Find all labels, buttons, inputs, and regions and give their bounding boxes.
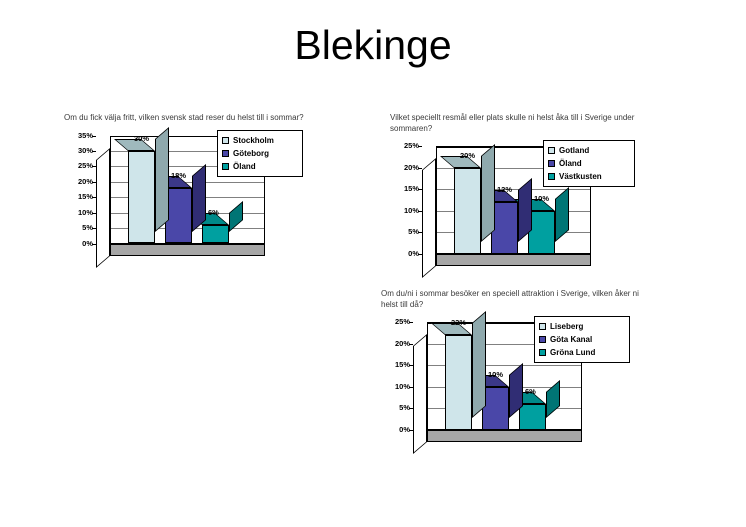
chart-bar-front-face [519, 404, 546, 430]
chart-legend: GotlandÖlandVästkusten [543, 140, 635, 187]
y-axis-tick-mark [409, 430, 413, 431]
chart-bar-front-face [165, 188, 192, 244]
y-axis-tick-mark [92, 151, 96, 152]
y-axis-tick-mark [92, 166, 96, 167]
legend-item: Öland [548, 157, 629, 170]
y-axis-tick-mark [92, 136, 96, 137]
legend-swatch-icon [548, 147, 555, 154]
y-axis-tick-mark [409, 387, 413, 388]
chart-bar-value-label: 12% [497, 186, 512, 194]
chart-legend: LisebergGöta KanalGröna Lund [534, 316, 630, 363]
legend-item: Liseberg [539, 320, 624, 333]
chart-plot-stad: 0%5%10%15%20%25%30%35%6%18%30%StockholmG… [64, 130, 314, 270]
legend-item-label: Öland [559, 159, 582, 168]
chart-bar-front-face [454, 168, 481, 254]
chart-floor [427, 430, 582, 442]
legend-item-label: Liseberg [550, 322, 583, 331]
chart-bar [482, 387, 509, 430]
chart-question-stad: Om du fick välja fritt, vilken svensk st… [64, 113, 314, 124]
chart-block-attraktion: Om du/ni i sommar besöker en speciell at… [381, 289, 643, 456]
slide-canvas: Blekinge Om du fick välja fritt, vilken … [0, 0, 746, 527]
legend-item: Göteborg [222, 147, 297, 160]
y-axis-tick-mark [409, 322, 413, 323]
chart-bar-front-face [482, 387, 509, 430]
legend-swatch-icon [222, 163, 229, 170]
chart-bar [165, 188, 192, 244]
legend-swatch-icon [222, 137, 229, 144]
legend-item-label: Gröna Lund [550, 348, 595, 357]
chart-bar-front-face [128, 151, 155, 244]
chart-bar [528, 211, 555, 254]
y-axis-tick-mark [92, 197, 96, 198]
legend-item-label: Stockholm [233, 136, 274, 145]
chart-bar [519, 404, 546, 430]
chart-question-attraktion: Om du/ni i sommar besöker en speciell at… [381, 289, 643, 310]
chart-bar-value-label: 20% [460, 152, 475, 160]
chart-bar-value-label: 10% [488, 371, 503, 379]
legend-item: Gotland [548, 144, 629, 157]
chart-bar [491, 202, 518, 254]
legend-swatch-icon [548, 173, 555, 180]
chart-legend: StockholmGöteborgÖland [217, 130, 303, 177]
chart-bar-front-face [202, 225, 229, 244]
chart-side-wall [96, 148, 110, 268]
y-axis-tick-mark [92, 244, 96, 245]
chart-floor [436, 254, 591, 266]
chart-plot-attraktion: 0%5%10%15%20%25%6%10%22%LisebergGöta Kan… [381, 316, 643, 456]
chart-bar [445, 335, 472, 430]
legend-swatch-icon [539, 323, 546, 330]
chart-bar-front-face [528, 211, 555, 254]
legend-item: Gröna Lund [539, 346, 624, 359]
page-title: Blekinge [0, 22, 746, 69]
chart-bar-side-face [481, 144, 495, 242]
y-axis-tick-mark [409, 365, 413, 366]
chart-bar-side-face [155, 127, 169, 232]
chart-bar-value-label: 18% [171, 172, 186, 180]
legend-item-label: Öland [233, 162, 256, 171]
y-axis-tick-mark [418, 189, 422, 190]
chart-bar-value-label: 10% [534, 195, 549, 203]
chart-floor [110, 244, 265, 256]
legend-item: Stockholm [222, 134, 297, 147]
y-axis-tick-mark [418, 168, 422, 169]
y-axis-tick-mark [418, 254, 422, 255]
legend-item-label: Göta Kanal [550, 335, 592, 344]
chart-question-resmal: Vilket speciellt resmål eller plats skul… [390, 113, 640, 134]
legend-swatch-icon [539, 336, 546, 343]
chart-bar-front-face [445, 335, 472, 430]
y-axis-tick-mark [418, 211, 422, 212]
legend-item: Öland [222, 160, 297, 173]
chart-bar-value-label: 6% [525, 388, 536, 396]
y-axis-tick-mark [409, 344, 413, 345]
chart-plot-resmal: 0%5%10%15%20%25%10%12%20%GotlandÖlandVäs… [390, 140, 640, 280]
y-axis-tick-mark [92, 182, 96, 183]
y-axis-tick-mark [418, 232, 422, 233]
legend-swatch-icon [548, 160, 555, 167]
chart-bar [454, 168, 481, 254]
chart-bar-front-face [491, 202, 518, 254]
y-axis-tick-mark [418, 146, 422, 147]
legend-item-label: Västkusten [559, 172, 602, 181]
chart-bar [202, 225, 229, 244]
y-axis-tick-mark [92, 213, 96, 214]
chart-block-resmal: Vilket speciellt resmål eller plats skul… [390, 113, 640, 280]
chart-bar-side-face [472, 311, 486, 418]
chart-bar-value-label: 30% [134, 135, 149, 143]
y-axis-tick-mark [409, 408, 413, 409]
legend-swatch-icon [539, 349, 546, 356]
legend-item-label: Göteborg [233, 149, 269, 158]
legend-item: Göta Kanal [539, 333, 624, 346]
legend-swatch-icon [222, 150, 229, 157]
chart-bar-value-label: 6% [208, 209, 219, 217]
chart-side-wall [413, 334, 427, 454]
chart-bar [128, 151, 155, 244]
legend-item-label: Gotland [559, 146, 589, 155]
legend-item: Västkusten [548, 170, 629, 183]
chart-bar-value-label: 22% [451, 319, 466, 327]
y-axis-tick-mark [92, 228, 96, 229]
chart-block-stad: Om du fick välja fritt, vilken svensk st… [64, 113, 314, 270]
chart-side-wall [422, 158, 436, 278]
